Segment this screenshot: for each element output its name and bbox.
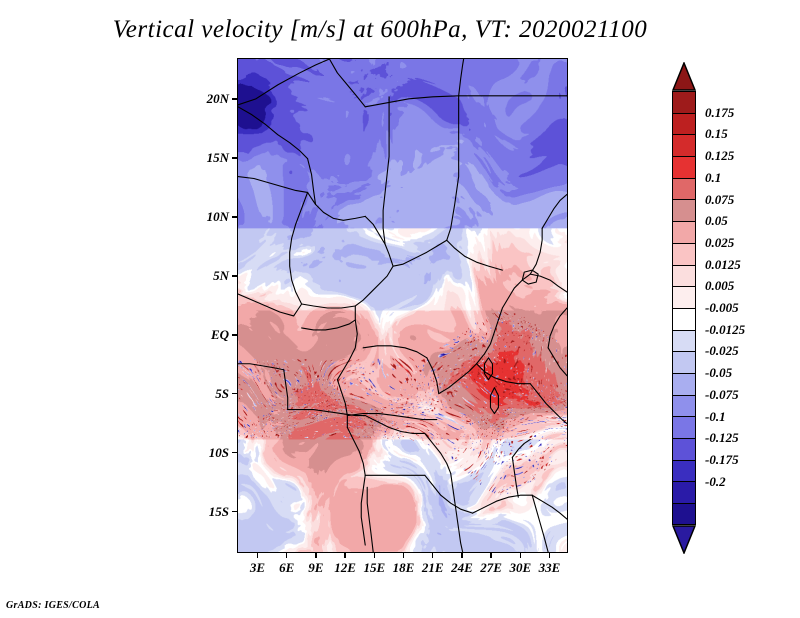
y-axis-label: 5S xyxy=(215,386,229,402)
colorbar-band xyxy=(672,351,696,373)
colorbar-tick-label: 0.1 xyxy=(705,170,721,186)
y-axis-label: 15S xyxy=(209,504,229,520)
x-axis-label: 33E xyxy=(539,560,561,576)
colorbar-tick-label: 0.075 xyxy=(705,192,734,208)
credit-label: GrADS: IGES/COLA xyxy=(6,600,100,611)
x-axis-tick xyxy=(403,552,405,558)
colorbar-band xyxy=(672,113,696,135)
colorbar-band xyxy=(672,199,696,221)
y-axis-tick xyxy=(232,452,238,454)
y-axis-label: 5N xyxy=(213,268,229,284)
colorbar-tick-label: -0.125 xyxy=(705,430,739,446)
colorbar-tick-label: -0.1 xyxy=(705,409,726,425)
colorbar-band xyxy=(672,308,696,330)
y-axis-label: 10N xyxy=(207,209,229,225)
colorbar-band xyxy=(672,438,696,460)
y-axis-label: 20N xyxy=(207,91,229,107)
colorbar-band xyxy=(672,416,696,438)
y-axis-label: 10S xyxy=(209,445,229,461)
x-axis-label: 3E xyxy=(250,560,265,576)
colorbar-band xyxy=(672,134,696,156)
y-axis-label: 15N xyxy=(207,150,229,166)
x-axis-tick xyxy=(520,552,522,558)
colorbar-band xyxy=(672,373,696,395)
y-axis-tick xyxy=(232,334,238,336)
colorbar-band xyxy=(672,286,696,308)
colorbar-tick-label: 0.125 xyxy=(705,148,734,164)
colorbar-tick-label: -0.05 xyxy=(705,365,732,381)
x-axis-tick xyxy=(432,552,434,558)
x-axis-tick xyxy=(374,552,376,558)
colorbar-tick-label: 0.05 xyxy=(705,213,728,229)
x-axis-label: 18E xyxy=(393,560,415,576)
y-axis-tick xyxy=(232,216,238,218)
colorbar-tick-label: -0.075 xyxy=(705,387,739,403)
map-plot-area: 20N15N10N5NEQ5S10S15S3E6E9E12E15E18E21E2… xyxy=(237,58,568,553)
x-axis-tick xyxy=(490,552,492,558)
colorbar-tick-label: 0.005 xyxy=(705,278,734,294)
y-axis-tick xyxy=(232,98,238,100)
colorbar: 0.1750.150.1250.10.0750.050.0250.01250.0… xyxy=(672,62,696,554)
colorbar-tick-label: 0.175 xyxy=(705,105,734,121)
x-axis-tick xyxy=(549,552,551,558)
x-axis-tick xyxy=(315,552,317,558)
x-axis-tick xyxy=(257,552,259,558)
colorbar-tick-label: -0.0125 xyxy=(705,322,745,338)
colorbar-band xyxy=(672,395,696,417)
colorbar-bands xyxy=(672,91,696,525)
x-axis-tick xyxy=(286,552,288,558)
x-axis-label: 12E xyxy=(334,560,356,576)
y-axis-tick xyxy=(232,275,238,277)
colorbar-band xyxy=(672,481,696,503)
x-axis-tick xyxy=(461,552,463,558)
x-axis-label: 27E xyxy=(480,560,502,576)
y-axis-tick xyxy=(232,511,238,513)
colorbar-bottom-arrow-icon xyxy=(672,525,696,554)
colorbar-band xyxy=(672,503,696,525)
colorbar-band xyxy=(672,243,696,265)
colorbar-band xyxy=(672,265,696,287)
colorbar-tick-label: -0.005 xyxy=(705,300,739,316)
x-axis-label: 30E xyxy=(509,560,531,576)
colorbar-tick-label: 0.025 xyxy=(705,235,734,251)
colorbar-band xyxy=(672,156,696,178)
colorbar-band xyxy=(672,178,696,200)
page-title: Vertical velocity [m/s] at 600hPa, VT: 2… xyxy=(0,16,760,44)
y-axis-tick xyxy=(232,393,238,395)
x-axis-label: 24E xyxy=(451,560,473,576)
x-axis-label: 21E xyxy=(422,560,444,576)
colorbar-band xyxy=(672,91,696,113)
colorbar-band xyxy=(672,221,696,243)
colorbar-tick-label: -0.2 xyxy=(705,474,726,490)
colorbar-band xyxy=(672,330,696,352)
x-axis-tick xyxy=(344,552,346,558)
x-axis-label: 6E xyxy=(279,560,294,576)
colorbar-tick-label: -0.025 xyxy=(705,343,739,359)
colorbar-band xyxy=(672,460,696,482)
colorbar-tick-label: 0.15 xyxy=(705,126,728,142)
y-axis-tick xyxy=(232,157,238,159)
x-axis-label: 15E xyxy=(363,560,385,576)
x-axis-label: 9E xyxy=(308,560,323,576)
colorbar-tick-label: -0.175 xyxy=(705,452,739,468)
colorbar-tick-label: 0.0125 xyxy=(705,257,741,273)
y-axis-label: EQ xyxy=(211,327,229,343)
colorbar-top-arrow-icon xyxy=(672,62,696,91)
country-borders-overlay xyxy=(238,59,567,552)
